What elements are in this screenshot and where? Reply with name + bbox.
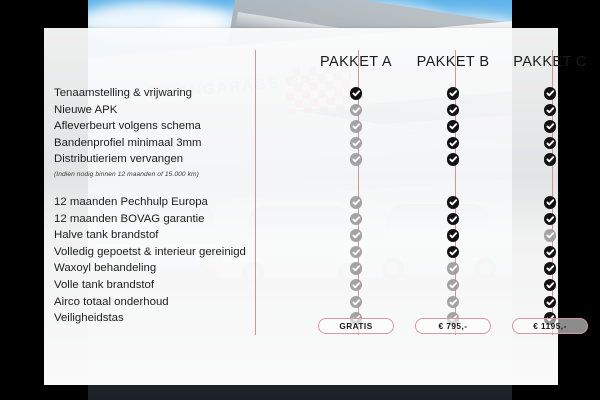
check-cell bbox=[438, 277, 468, 294]
check-cell bbox=[438, 227, 468, 244]
check-excluded-icon bbox=[544, 229, 557, 242]
check-cell bbox=[535, 211, 565, 228]
pricing-card: PAKKET APAKKET BPAKKET C Tenaamstelling … bbox=[44, 28, 558, 385]
feature-label: 12 maanden Pechhulp Europa bbox=[54, 194, 269, 211]
check-excluded-icon bbox=[350, 196, 363, 209]
check-excluded-icon bbox=[350, 229, 363, 242]
feature-label: Tenaamstelling & vrijwaring bbox=[54, 85, 269, 102]
check-cell bbox=[438, 85, 468, 102]
check-cell bbox=[438, 244, 468, 261]
check-cell bbox=[341, 181, 371, 194]
check-cell bbox=[438, 102, 468, 119]
check-included-icon bbox=[447, 120, 460, 133]
check-cell bbox=[341, 168, 371, 181]
feature-label: Waxoyl behandeling bbox=[54, 260, 269, 277]
check-excluded-icon bbox=[350, 213, 363, 226]
check-included-icon bbox=[544, 153, 557, 166]
check-included-icon bbox=[447, 104, 460, 117]
check-cell bbox=[535, 118, 565, 135]
check-included-icon bbox=[544, 87, 557, 100]
check-included-icon bbox=[447, 137, 460, 150]
check-cell bbox=[341, 151, 371, 168]
price-button-b[interactable]: € 795,- bbox=[415, 318, 491, 334]
check-cell bbox=[438, 194, 468, 211]
check-included-icon bbox=[447, 196, 460, 209]
check-column-a bbox=[341, 85, 371, 327]
check-cell bbox=[535, 85, 565, 102]
check-included-icon bbox=[350, 87, 363, 100]
check-excluded-icon bbox=[350, 137, 363, 150]
check-cell bbox=[535, 294, 565, 311]
check-cell bbox=[341, 227, 371, 244]
check-cell bbox=[438, 260, 468, 277]
check-included-icon bbox=[544, 246, 557, 259]
check-cell bbox=[535, 102, 565, 119]
check-included-icon bbox=[544, 196, 557, 209]
check-cell bbox=[535, 277, 565, 294]
feature-label: Volledig gepoetst & interieur gereinigd bbox=[54, 244, 269, 261]
check-excluded-icon bbox=[350, 153, 363, 166]
feature-label: Distributieriem vervangen bbox=[54, 151, 269, 168]
feature-label: Airco totaal onderhoud bbox=[54, 294, 269, 311]
feature-label: Nieuwe APK bbox=[54, 102, 269, 119]
feature-label: Volle tank brandstof bbox=[54, 277, 269, 294]
check-cell bbox=[438, 118, 468, 135]
feature-label: Bandenprofiel minimaal 3mm bbox=[54, 135, 269, 152]
check-excluded-icon bbox=[350, 279, 363, 292]
check-cell bbox=[341, 85, 371, 102]
check-cell bbox=[341, 194, 371, 211]
check-cell bbox=[438, 181, 468, 194]
check-cell bbox=[438, 211, 468, 228]
check-cell bbox=[438, 168, 468, 181]
check-included-icon bbox=[544, 104, 557, 117]
check-cell bbox=[341, 260, 371, 277]
column-header-b: PAKKET B bbox=[405, 54, 501, 70]
check-cell bbox=[535, 244, 565, 261]
check-included-icon bbox=[447, 153, 460, 166]
check-cell bbox=[438, 135, 468, 152]
check-cell bbox=[341, 102, 371, 119]
check-excluded-icon bbox=[350, 262, 363, 275]
screenshot-root: VANGARAGE GIEL PAKKET APAKKET BPAKKET C … bbox=[0, 0, 600, 400]
check-included-icon bbox=[544, 213, 557, 226]
check-cell bbox=[341, 135, 371, 152]
check-excluded-icon bbox=[447, 262, 460, 275]
check-included-icon bbox=[544, 296, 557, 309]
check-included-icon bbox=[447, 87, 460, 100]
check-cell bbox=[535, 260, 565, 277]
check-excluded-icon bbox=[350, 120, 363, 133]
check-cell bbox=[535, 151, 565, 168]
check-included-icon bbox=[544, 120, 557, 133]
check-cell bbox=[341, 277, 371, 294]
price-button-c[interactable]: € 1195,- bbox=[512, 318, 588, 334]
column-header-c: PAKKET C bbox=[502, 54, 598, 70]
check-cell bbox=[341, 211, 371, 228]
check-column-c bbox=[535, 85, 565, 327]
feature-label-list: Tenaamstelling & vrijwaringNieuwe APKAfl… bbox=[54, 85, 269, 327]
check-cell bbox=[341, 244, 371, 261]
check-excluded-icon bbox=[447, 296, 460, 309]
feature-label: 12 maanden BOVAG garantie bbox=[54, 211, 269, 228]
check-cell bbox=[535, 194, 565, 211]
check-excluded-icon bbox=[350, 104, 363, 117]
check-cell bbox=[438, 151, 468, 168]
feature-label: Veiligheidstas bbox=[54, 310, 269, 327]
check-cell bbox=[535, 227, 565, 244]
check-cell bbox=[341, 118, 371, 135]
check-included-icon bbox=[447, 213, 460, 226]
check-cell bbox=[535, 168, 565, 181]
check-cell bbox=[535, 135, 565, 152]
check-excluded-icon bbox=[350, 246, 363, 259]
check-included-icon bbox=[447, 229, 460, 242]
check-included-icon bbox=[544, 137, 557, 150]
check-included-icon bbox=[544, 279, 557, 292]
feature-label: Halve tank brandstof bbox=[54, 227, 269, 244]
check-included-icon bbox=[544, 262, 557, 275]
price-button-a[interactable]: GRATIS bbox=[318, 318, 394, 334]
column-header-a: PAKKET A bbox=[308, 54, 404, 70]
check-cell bbox=[341, 294, 371, 311]
feature-footnote: (Indien nodig binnen 12 maanden of 15.00… bbox=[54, 168, 269, 181]
check-included-icon bbox=[447, 246, 460, 259]
check-excluded-icon bbox=[447, 279, 460, 292]
group-spacer bbox=[54, 181, 269, 194]
check-cell bbox=[438, 294, 468, 311]
check-cell bbox=[535, 181, 565, 194]
feature-label: Afleverbeurt volgens schema bbox=[54, 118, 269, 135]
check-column-b bbox=[438, 85, 468, 327]
check-excluded-icon bbox=[350, 296, 363, 309]
